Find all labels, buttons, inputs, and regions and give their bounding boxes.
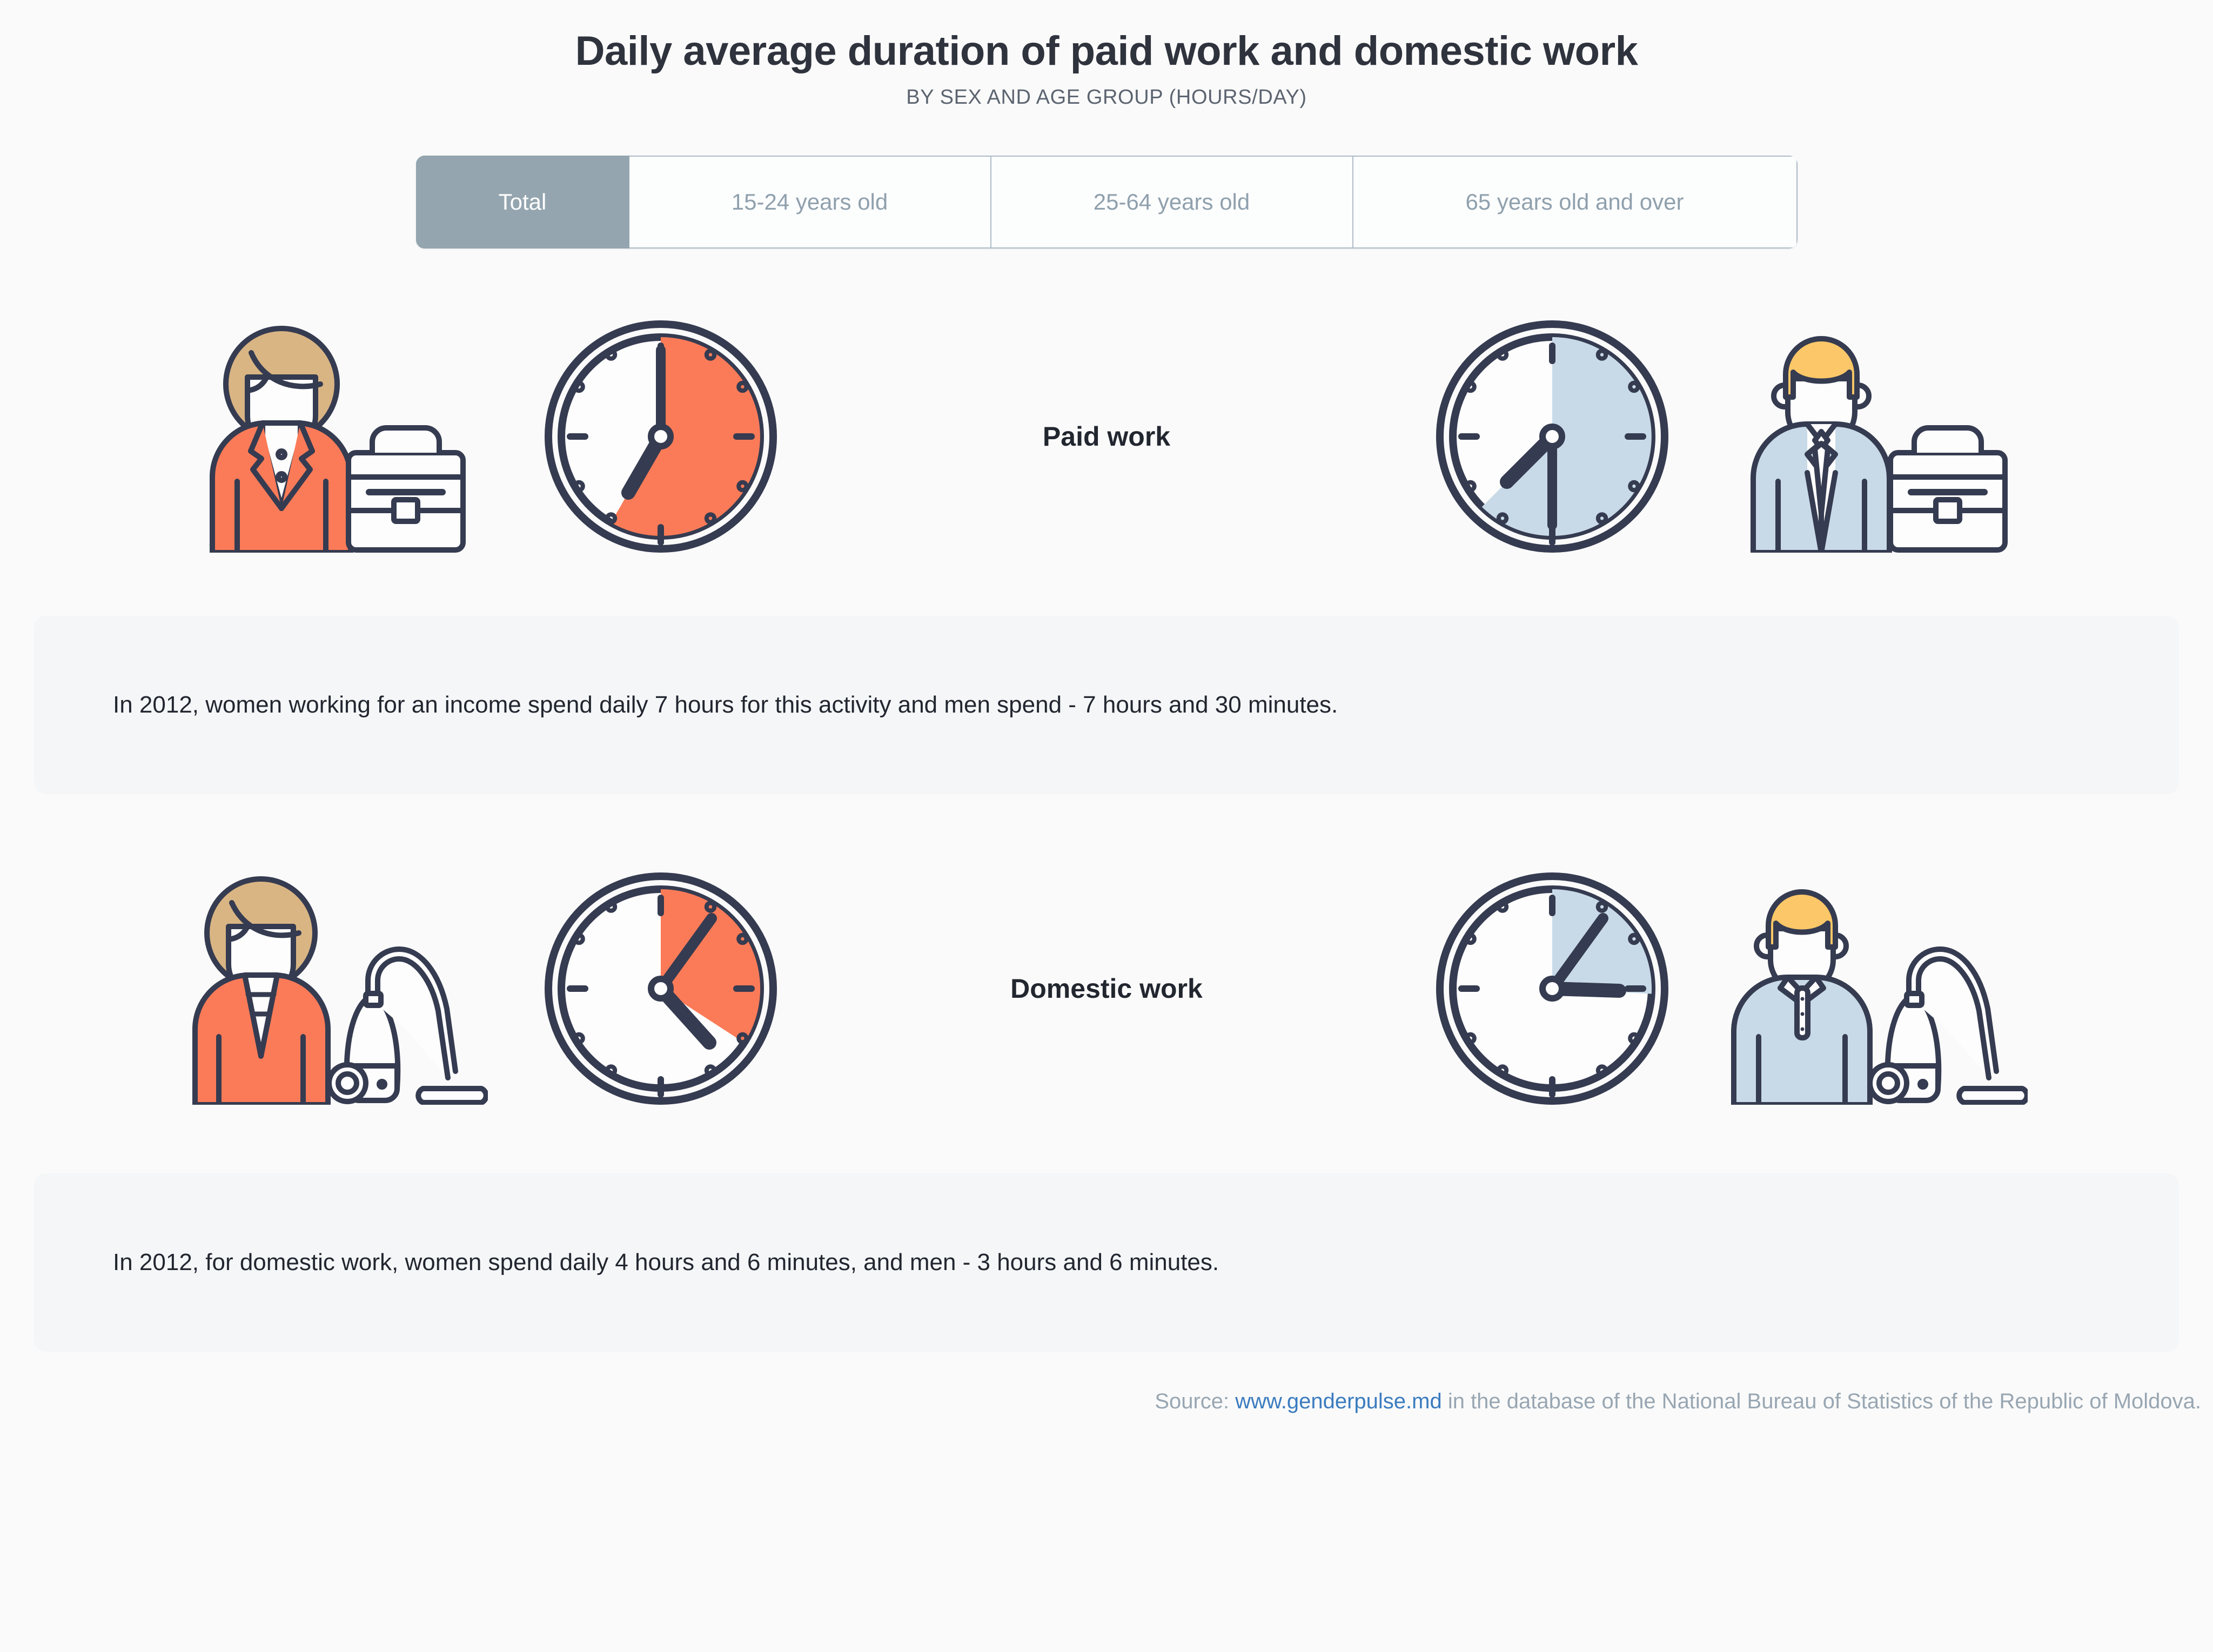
source-link[interactable]: www.genderpulse.md: [1235, 1389, 1441, 1413]
age-group-tabbar: Total 15-24 years old 25-64 years old 65…: [0, 156, 2213, 249]
source-footer: Source: www.genderpulse.md in the databa…: [0, 1389, 2213, 1414]
domestic-work-row: Domestic work: [0, 848, 2213, 1129]
paid-work-women-figure-slot: [164, 320, 509, 553]
clock-icon: [1433, 318, 1671, 555]
page-title: Daily average duration of paid work and …: [0, 28, 2213, 74]
domestic-work-women-clock-slot: [509, 870, 812, 1107]
man-vacuum-cleaner-icon: [1725, 872, 2028, 1105]
tab-65-years-old-and-over[interactable]: 65 years old and over: [1353, 156, 1798, 249]
domestic-work-note-text: In 2012, for domestic work, women spend …: [113, 1246, 1219, 1278]
domestic-work-women-figure-slot: [164, 872, 509, 1105]
source-suffix: in the database of the National Bureau o…: [1442, 1389, 2201, 1413]
paid-work-women-clock-slot: [509, 318, 812, 555]
domestic-work-men-clock-slot: [1401, 870, 1704, 1107]
paid-work-note-text: In 2012, women working for an income spe…: [113, 689, 1338, 721]
woman-vacuum-cleaner-icon: [185, 872, 488, 1105]
page-subtitle: BY SEX AND AGE GROUP (HOURS/DAY): [0, 86, 2213, 109]
paid-work-label: Paid work: [812, 421, 1401, 452]
paid-work-men-figure-slot: [1704, 320, 2049, 553]
tab-total[interactable]: Total: [416, 156, 629, 249]
source-prefix: Source:: [1155, 1389, 1235, 1413]
paid-work-men-clock-slot: [1401, 318, 1704, 555]
tab-15-24-years-old[interactable]: 15-24 years old: [629, 156, 991, 249]
domestic-work-men-figure-slot: [1704, 872, 2049, 1105]
clock-icon: [542, 870, 780, 1107]
infographic-page: Daily average duration of paid work and …: [0, 0, 2213, 1652]
woman-office-worker-briefcase-icon: [202, 320, 472, 553]
paid-work-note-panel: In 2012, women working for an income spe…: [34, 616, 2179, 794]
domestic-work-note-panel: In 2012, for domestic work, women spend …: [34, 1173, 2179, 1352]
tab-list: Total 15-24 years old 25-64 years old 65…: [416, 156, 1798, 249]
clock-icon: [1433, 870, 1671, 1107]
clock-icon: [542, 318, 780, 555]
header: Daily average duration of paid work and …: [0, 0, 2213, 109]
paid-work-row: Paid work: [0, 296, 2213, 577]
domestic-work-label: Domestic work: [812, 973, 1401, 1004]
man-office-worker-briefcase-icon: [1741, 320, 2011, 553]
tab-25-64-years-old[interactable]: 25-64 years old: [991, 156, 1353, 249]
